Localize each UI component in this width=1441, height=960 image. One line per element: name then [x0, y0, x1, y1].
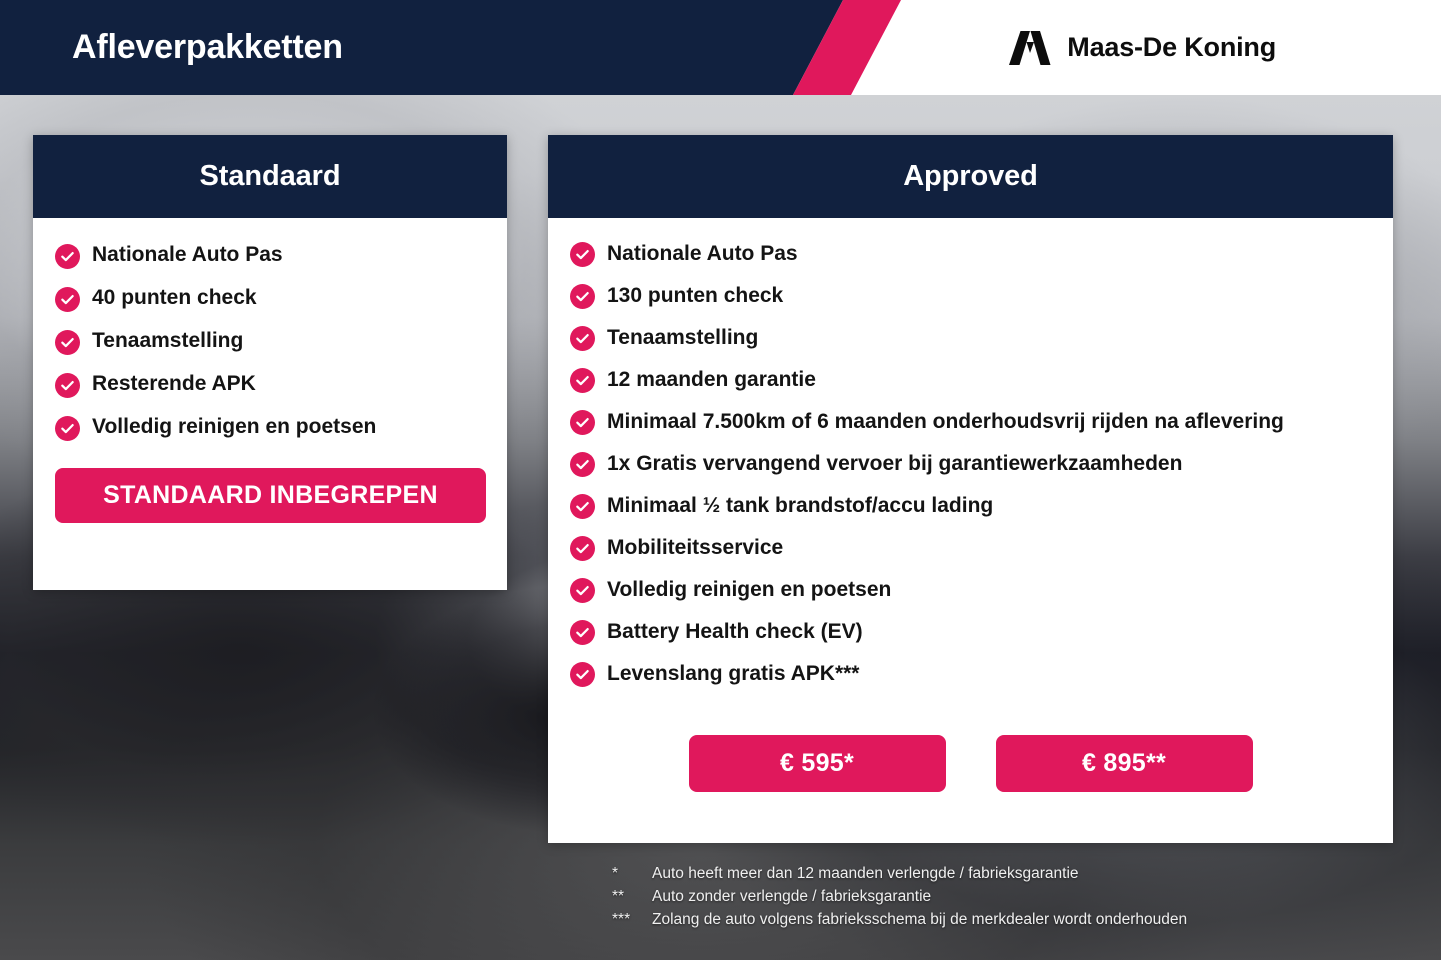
poster-root: Afleverpakketten Maas-De Koning Standaar… — [0, 0, 1441, 960]
feature-label: Volledig reinigen en poetsen — [92, 414, 376, 441]
standaard-included-button[interactable]: STANDAARD INBEGREPEN — [55, 468, 486, 523]
footnote-marker: * — [612, 862, 644, 885]
list-item: Resterende APK — [55, 371, 507, 398]
brand-logo: Maas-De Koning — [1009, 0, 1276, 95]
feature-list-standaard: Nationale Auto Pas 40 punten check Tenaa… — [33, 218, 507, 441]
list-item: Levenslang gratis APK*** — [570, 660, 1393, 689]
brand-name: Maas-De Koning — [1067, 32, 1276, 63]
package-title-standaard: Standaard — [33, 135, 507, 218]
feature-label: Nationale Auto Pas — [607, 240, 798, 269]
check-circle-icon — [570, 494, 595, 519]
package-body-approved: Nationale Auto Pas 130 punten check Tena… — [548, 218, 1393, 689]
footnote-text: Auto zonder verlengde / fabrieksgarantie — [652, 885, 931, 908]
feature-label: Minimaal ½ tank brandstof/accu lading — [607, 492, 993, 521]
feature-label: 1x Gratis vervangend vervoer bij garanti… — [607, 450, 1182, 479]
check-circle-icon — [570, 368, 595, 393]
footnote-double-asterisk: ** Auto zonder verlengde / fabrieksgaran… — [612, 885, 1412, 908]
check-circle-icon — [570, 326, 595, 351]
package-card-approved: Approved Nationale Auto Pas 130 punten c… — [548, 135, 1393, 843]
list-item: Minimaal 7.500km of 6 maanden onderhouds… — [570, 408, 1393, 437]
list-item: Nationale Auto Pas — [570, 240, 1393, 269]
check-circle-icon — [55, 416, 80, 441]
package-card-standaard: Standaard Nationale Auto Pas 40 punten c… — [33, 135, 507, 590]
feature-label: Resterende APK — [92, 371, 256, 398]
check-circle-icon — [55, 287, 80, 312]
feature-list-approved: Nationale Auto Pas 130 punten check Tena… — [548, 218, 1393, 689]
footnotes: * Auto heeft meer dan 12 maanden verleng… — [612, 862, 1412, 931]
check-circle-icon — [570, 536, 595, 561]
list-item: Minimaal ½ tank brandstof/accu lading — [570, 492, 1393, 521]
list-item: Nationale Auto Pas — [55, 242, 507, 269]
list-item: Mobiliteitsservice — [570, 534, 1393, 563]
list-item: 40 punten check — [55, 285, 507, 312]
footnote-marker: *** — [612, 908, 644, 931]
check-circle-icon — [55, 330, 80, 355]
feature-label: Nationale Auto Pas — [92, 242, 283, 269]
check-circle-icon — [570, 620, 595, 645]
feature-label: Tenaamstelling — [92, 328, 243, 355]
check-circle-icon — [570, 242, 595, 267]
feature-label: 40 punten check — [92, 285, 257, 312]
feature-label: Minimaal 7.500km of 6 maanden onderhouds… — [607, 408, 1284, 437]
maas-de-koning-m-logo-icon — [1009, 31, 1051, 65]
check-circle-icon — [55, 244, 80, 269]
price-button-row: € 595* € 895** — [548, 735, 1393, 792]
footnote-single-asterisk: * Auto heeft meer dan 12 maanden verleng… — [612, 862, 1412, 885]
price-button-595[interactable]: € 595* — [689, 735, 946, 792]
check-circle-icon — [570, 410, 595, 435]
package-body-standaard: Nationale Auto Pas 40 punten check Tenaa… — [33, 218, 507, 441]
list-item: Volledig reinigen en poetsen — [570, 576, 1393, 605]
footnote-text: Auto heeft meer dan 12 maanden verlengde… — [652, 862, 1079, 885]
list-item: Volledig reinigen en poetsen — [55, 414, 507, 441]
list-item: 12 maanden garantie — [570, 366, 1393, 395]
feature-label: 130 punten check — [607, 282, 783, 311]
feature-label: Levenslang gratis APK*** — [607, 660, 859, 689]
package-title-approved: Approved — [548, 135, 1393, 218]
list-item: Tenaamstelling — [55, 328, 507, 355]
price-button-895[interactable]: € 895** — [996, 735, 1253, 792]
feature-label: 12 maanden garantie — [607, 366, 816, 395]
page-header: Afleverpakketten Maas-De Koning — [0, 0, 1441, 95]
list-item: Battery Health check (EV) — [570, 618, 1393, 647]
list-item: 130 punten check — [570, 282, 1393, 311]
feature-label: Volledig reinigen en poetsen — [607, 576, 891, 605]
feature-label: Battery Health check (EV) — [607, 618, 863, 647]
check-circle-icon — [570, 578, 595, 603]
footnote-marker: ** — [612, 885, 644, 908]
page-title: Afleverpakketten — [72, 0, 343, 95]
footnote-text: Zolang de auto volgens fabrieksschema bi… — [652, 908, 1187, 931]
check-circle-icon — [570, 452, 595, 477]
check-circle-icon — [570, 284, 595, 309]
list-item: Tenaamstelling — [570, 324, 1393, 353]
list-item: 1x Gratis vervangend vervoer bij garanti… — [570, 450, 1393, 479]
footnote-triple-asterisk: *** Zolang de auto volgens fabrieksschem… — [612, 908, 1412, 931]
feature-label: Tenaamstelling — [607, 324, 758, 353]
check-circle-icon — [55, 373, 80, 398]
feature-label: Mobiliteitsservice — [607, 534, 783, 563]
check-circle-icon — [570, 662, 595, 687]
